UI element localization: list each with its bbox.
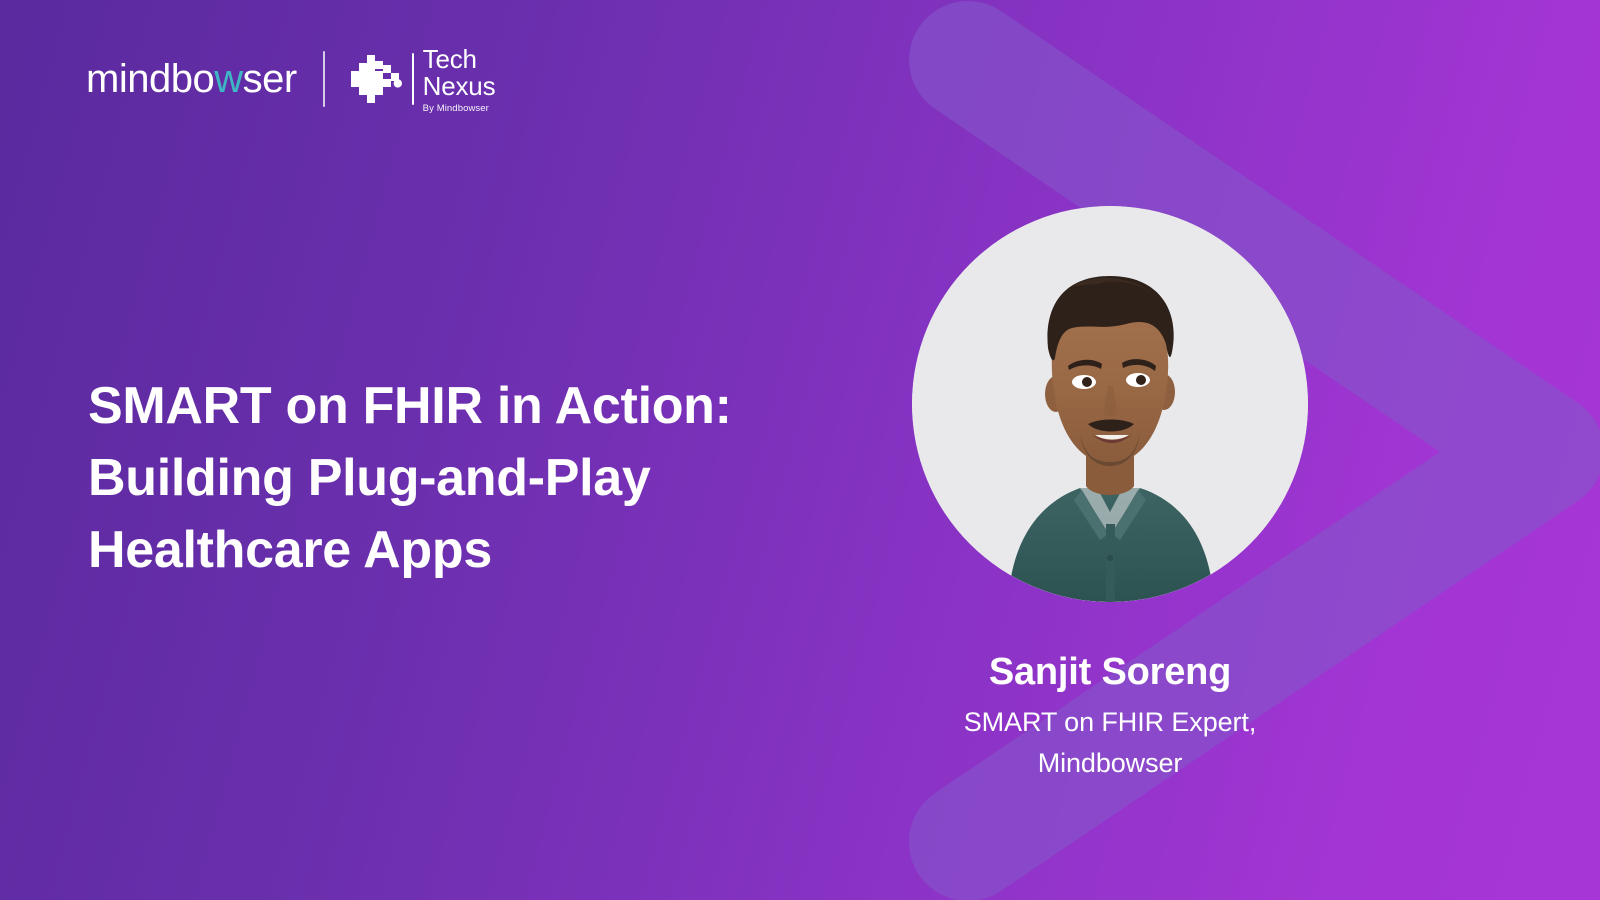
technexus-line-nexus: Nexus (423, 73, 496, 100)
wordmark-part-post: ser (243, 57, 297, 101)
technexus-text: Tech Nexus By Mindbowser (423, 45, 496, 114)
technexus-subtitle: By Mindbowser (423, 104, 496, 114)
speaker-role-line-2: Mindbowser (860, 743, 1360, 784)
technexus-line-tech: Tech (423, 46, 496, 73)
wordmark-accent-w: w (214, 57, 242, 101)
title-line-1: SMART on FHIR in Action: (88, 370, 788, 442)
technexus-network-glyph (349, 53, 403, 105)
speaker-avatar (912, 206, 1308, 602)
brand-logo-bar: mindbowser (86, 46, 495, 112)
technexus-logo: Tech Nexus By Mindbowser (349, 45, 496, 114)
speaker-info: Sanjit Soreng SMART on FHIR Expert, Mind… (860, 648, 1360, 784)
page-title: SMART on FHIR in Action: Building Plug-a… (88, 370, 788, 586)
technexus-rule (412, 53, 414, 105)
speaker-name: Sanjit Soreng (860, 648, 1360, 696)
wordmark-part-pre: mindbo (86, 57, 214, 101)
speaker-role-line-1: SMART on FHIR Expert, (860, 702, 1360, 743)
speaker-photo (912, 206, 1308, 602)
title-line-3: Healthcare Apps (88, 514, 788, 586)
mindbowser-wordmark: mindbowser (86, 59, 297, 99)
webinar-promo-slide: mindbowser (0, 0, 1600, 900)
title-line-2: Building Plug-and-Play (88, 442, 788, 514)
logo-divider (323, 51, 325, 107)
